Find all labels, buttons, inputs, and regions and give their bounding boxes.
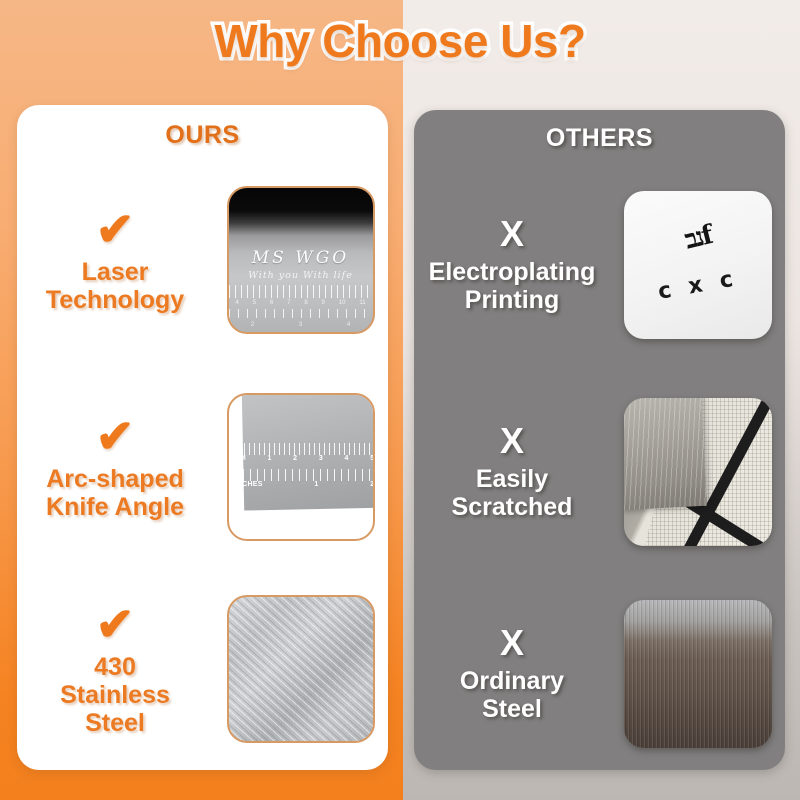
ours-row-2-image-slot: CM 1 2 3 4 5 INCHES 1 2 <box>213 393 388 541</box>
scratched-metal-edge <box>624 398 707 510</box>
ruler-num: 2 <box>251 322 254 328</box>
ours-label-3: 430 Stainless Steel <box>60 653 170 737</box>
ours-label-1: Laser Technology <box>46 258 184 314</box>
page-title: Why Choose Us? <box>0 14 800 68</box>
ruler-scale-cm: CM 1 2 3 4 5 <box>235 455 375 462</box>
others-heading: OTHERS <box>414 124 785 153</box>
engraved-brand-text: MS WGO <box>229 248 373 268</box>
ruler-ticks-cm <box>229 443 373 455</box>
ours-row-3-text: ✔ 430 Stainless Steel <box>17 601 213 737</box>
others-label-1: Electroplating Printing <box>429 258 596 314</box>
others-label-1-line-1: Electroplating <box>429 258 596 286</box>
ruler-num: 4 <box>235 300 238 306</box>
ordinary-dull-steel-photo <box>624 600 772 748</box>
others-label-2-line-2: Scratched <box>452 493 573 521</box>
scratched-metal-fabric-photo <box>624 398 772 546</box>
ruler-num: 4 <box>347 322 350 328</box>
ours-label-2-line-2: Knife Angle <box>46 493 184 521</box>
peeled-glyphs-bottom: c x c <box>624 260 772 310</box>
peeling-printed-letters-photo: נבf c x c <box>624 191 772 339</box>
ruler-num: 9 <box>322 300 325 306</box>
others-row-easily-scratched: X Easily Scratched <box>414 372 785 572</box>
ours-label-2-line-1: Arc-shaped <box>46 465 184 493</box>
others-row-1-image-slot: נבf c x c <box>610 191 785 339</box>
others-row-1-text: X Electroplating Printing <box>414 216 610 314</box>
check-icon: ✔ <box>96 413 135 459</box>
laser-engraved-blade-photo: MS WGO With you With life 4 5 6 7 8 9 10… <box>227 186 375 334</box>
others-label-3-line-1: Ordinary <box>460 667 564 695</box>
ruler-ticks-inch <box>229 309 373 318</box>
scale-label: 5 <box>370 455 374 462</box>
others-panel: OTHERS X Electroplating Printing נבf c x… <box>414 110 785 770</box>
peeled-glyphs-top: נבf <box>624 206 772 271</box>
ours-label-3-line-2: Stainless <box>60 681 170 709</box>
ruler-num: 6 <box>270 300 273 306</box>
ours-label-3-line-3: Steel <box>60 709 170 737</box>
ruler-numbers-cm: 4 5 6 7 8 9 10 11 <box>229 300 373 306</box>
ruler-scale-inch: INCHES 1 2 <box>235 481 375 488</box>
ruler-ticks-cm <box>229 285 373 298</box>
ours-label-2: Arc-shaped Knife Angle <box>46 465 184 521</box>
others-row-electroplating-printing: X Electroplating Printing נבf c x c <box>414 165 785 365</box>
ours-row-2-text: ✔ Arc-shaped Knife Angle <box>17 413 213 521</box>
scratch-lines <box>624 398 707 510</box>
cross-icon: X <box>500 423 524 459</box>
others-row-3-text: X Ordinary Steel <box>414 625 610 723</box>
scale-label: 4 <box>345 455 349 462</box>
ours-label-1-line-2: Technology <box>46 286 184 314</box>
others-row-3-image-slot <box>610 600 785 748</box>
ruler-num: 5 <box>253 300 256 306</box>
ours-row-1-text: ✔ Laser Technology <box>17 206 213 314</box>
ruler-num: 10 <box>339 300 346 306</box>
ruler-num: 11 <box>359 300 365 306</box>
ours-heading: OURS <box>17 121 388 150</box>
brushed-texture <box>227 595 375 743</box>
others-label-1-line-2: Printing <box>429 286 596 314</box>
ruler-num: 7 <box>287 300 290 306</box>
arc-knife-ruler-photo: CM 1 2 3 4 5 INCHES 1 2 <box>227 393 375 541</box>
scale-label: 2 <box>370 481 374 488</box>
ruler-num: 3 <box>299 322 302 328</box>
ours-row-430-stainless-steel: ✔ 430 Stainless Steel <box>17 569 388 769</box>
check-icon: ✔ <box>96 206 135 252</box>
ours-label-1-line-1: Laser <box>46 258 184 286</box>
dull-brushed-texture <box>624 600 772 748</box>
others-label-3: Ordinary Steel <box>460 667 564 723</box>
engraved-tagline-text: With you With life <box>229 270 373 281</box>
others-label-2-line-1: Easily <box>452 465 573 493</box>
cross-icon: X <box>500 625 524 661</box>
ours-row-arc-shaped-knife-angle: ✔ Arc-shaped Knife Angle CM 1 2 3 4 5 <box>17 367 388 567</box>
others-row-ordinary-steel: X Ordinary Steel <box>414 574 785 774</box>
ruler-ticks-inch <box>229 469 373 481</box>
scale-label: 1 <box>314 481 318 488</box>
cross-icon: X <box>500 216 524 252</box>
ours-row-laser-technology: ✔ Laser Technology MS WGO With you With … <box>17 160 388 360</box>
check-icon: ✔ <box>96 601 135 647</box>
others-label-3-line-2: Steel <box>460 695 564 723</box>
scale-label: 3 <box>319 455 323 462</box>
scale-label: CM <box>235 455 247 462</box>
ours-panel: OURS ✔ Laser Technology MS WGO With you … <box>17 105 388 770</box>
ruler-numbers-inch: 2 3 4 <box>229 322 373 328</box>
ours-row-3-image-slot <box>213 595 388 743</box>
others-row-2-text: X Easily Scratched <box>414 423 610 521</box>
ours-label-3-line-1: 430 <box>60 653 170 681</box>
scale-label: 1 <box>267 455 271 462</box>
ruler-num: 8 <box>304 300 307 306</box>
scale-label: INCHES <box>235 481 263 488</box>
others-row-2-image-slot <box>610 398 785 546</box>
ours-row-1-image-slot: MS WGO With you With life 4 5 6 7 8 9 10… <box>213 186 388 334</box>
brushed-stainless-steel-photo <box>227 595 375 743</box>
scale-label: 2 <box>293 455 297 462</box>
others-label-2: Easily Scratched <box>452 465 573 521</box>
